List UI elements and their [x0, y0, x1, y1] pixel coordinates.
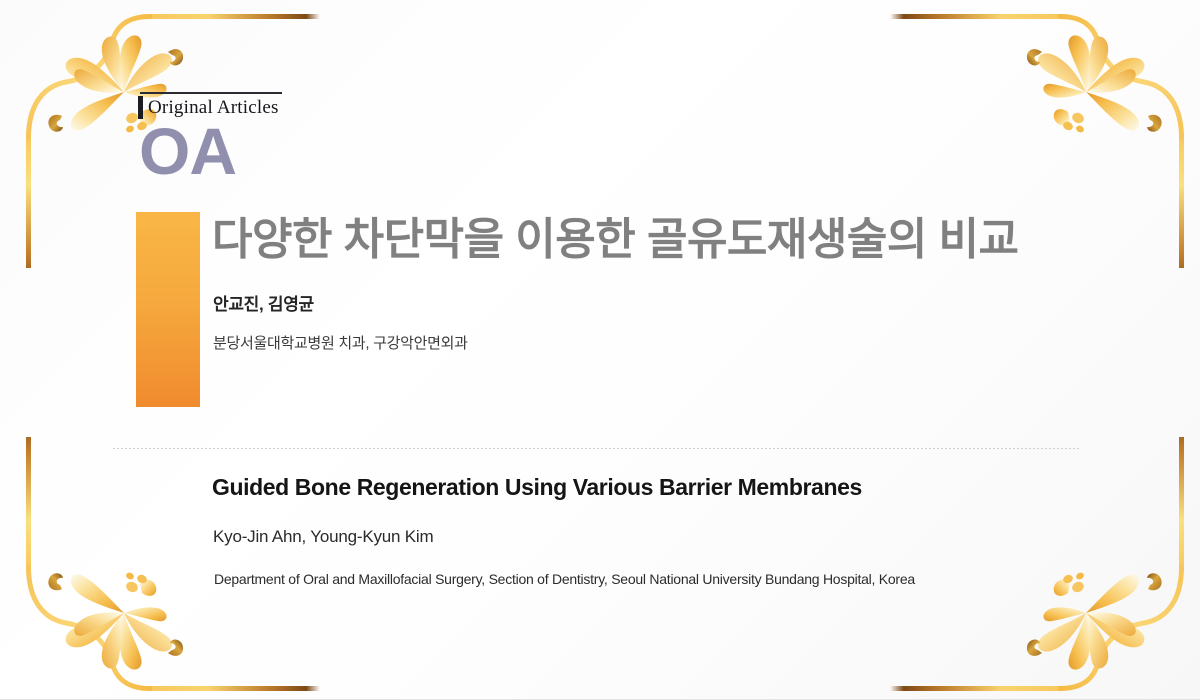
korean-title: 다양한 차단막을 이용한 골유도재생술의 비교	[212, 212, 1019, 268]
english-affiliation: Department of Oral and Maxillofacial Sur…	[214, 571, 915, 587]
oa-logo: Original Articles OA	[138, 92, 282, 181]
english-authors: Kyo-Jin Ahn, Young-Kyun Kim	[213, 527, 433, 547]
korean-authors: 안교진, 김영균	[213, 290, 314, 315]
logo-rule	[140, 92, 282, 94]
logo-initials: OA	[139, 121, 282, 181]
slide-canvas: Original Articles OA 다양한 차단막을 이용한 골유도재생술…	[0, 0, 1200, 700]
corner-ornament-bottom-right-icon	[890, 437, 1190, 697]
section-divider	[113, 448, 1079, 449]
accent-bar	[136, 212, 200, 407]
english-title: Guided Bone Regeneration Using Various B…	[212, 474, 862, 501]
korean-affiliation: 분당서울대학교병원 치과, 구강악안면외과	[213, 332, 468, 353]
